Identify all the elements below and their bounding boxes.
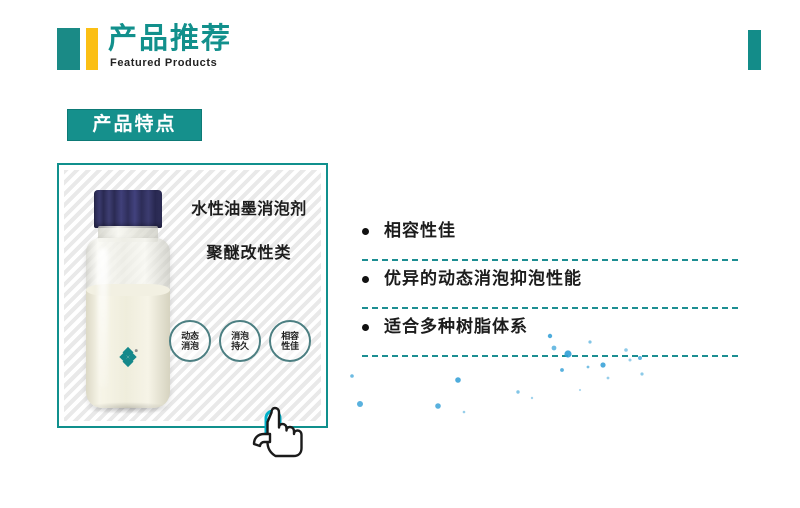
bottle-body [86, 238, 170, 408]
feature-badge-3-line1: 相容 [281, 331, 299, 341]
header-yellow-accent-block [86, 28, 98, 70]
feature-list-item: 优异的动态消泡抑泡性能 [362, 261, 738, 309]
feature-item-label: 优异的动态消泡抑泡性能 [384, 268, 582, 290]
bullet-icon [362, 228, 369, 235]
feature-badge-2-line2: 持久 [231, 341, 249, 351]
feature-badge-2: 消泡 持久 [219, 320, 261, 362]
feature-badge-2-line1: 消泡 [231, 331, 249, 341]
page-header: 产品推荐 Featured Products [0, 0, 800, 100]
feature-badge-3: 相容 性佳 [269, 320, 311, 362]
bullet-icon [362, 276, 369, 283]
feature-list-item: 相容性佳 [362, 213, 738, 261]
product-feature-badge-row: 动态 消泡 消泡 持久 相容 性佳 [169, 320, 311, 362]
feature-badge-1-line1: 动态 [181, 331, 199, 341]
product-card-title: 水性油墨消泡剂 [174, 200, 321, 220]
product-image-card[interactable]: 水性油墨消泡剂 聚醚改性类 动态 消泡 消泡 持久 相容 性佳 [57, 163, 328, 428]
product-features-list: 相容性佳 优异的动态消泡抑泡性能 适合多种树脂体系 [362, 213, 738, 357]
bottle-cap [94, 190, 162, 228]
page-title: 产品推荐 [108, 22, 232, 56]
feature-item-label: 相容性佳 [384, 220, 456, 242]
feature-list-item: 适合多种树脂体系 [362, 309, 738, 357]
bottle-shadow [84, 402, 172, 414]
bullet-icon [362, 324, 369, 331]
feature-badge-1: 动态 消泡 [169, 320, 211, 362]
section-badge-label: 产品特点 [92, 114, 176, 136]
bottle-glass-highlight [98, 248, 108, 388]
pointing-hand-icon [248, 398, 304, 460]
product-card-title-block: 水性油墨消泡剂 聚醚改性类 [174, 200, 321, 264]
feature-item-label: 适合多种树脂体系 [384, 316, 528, 338]
diamond-logo-icon [117, 346, 139, 368]
feature-divider [362, 355, 738, 357]
feature-badge-3-line2: 性佳 [281, 341, 299, 351]
product-card-inner: 水性油墨消泡剂 聚醚改性类 动态 消泡 消泡 持久 相容 性佳 [64, 170, 321, 421]
product-bottle-image [80, 190, 176, 408]
feature-badge-1-line2: 消泡 [181, 341, 199, 351]
product-card-subtitle: 聚醚改性类 [174, 244, 321, 264]
header-teal-accent-block [57, 28, 80, 70]
section-badge-product-features: 产品特点 [67, 109, 202, 141]
page-subtitle: Featured Products [110, 57, 217, 69]
header-right-accent-bar [748, 30, 761, 70]
